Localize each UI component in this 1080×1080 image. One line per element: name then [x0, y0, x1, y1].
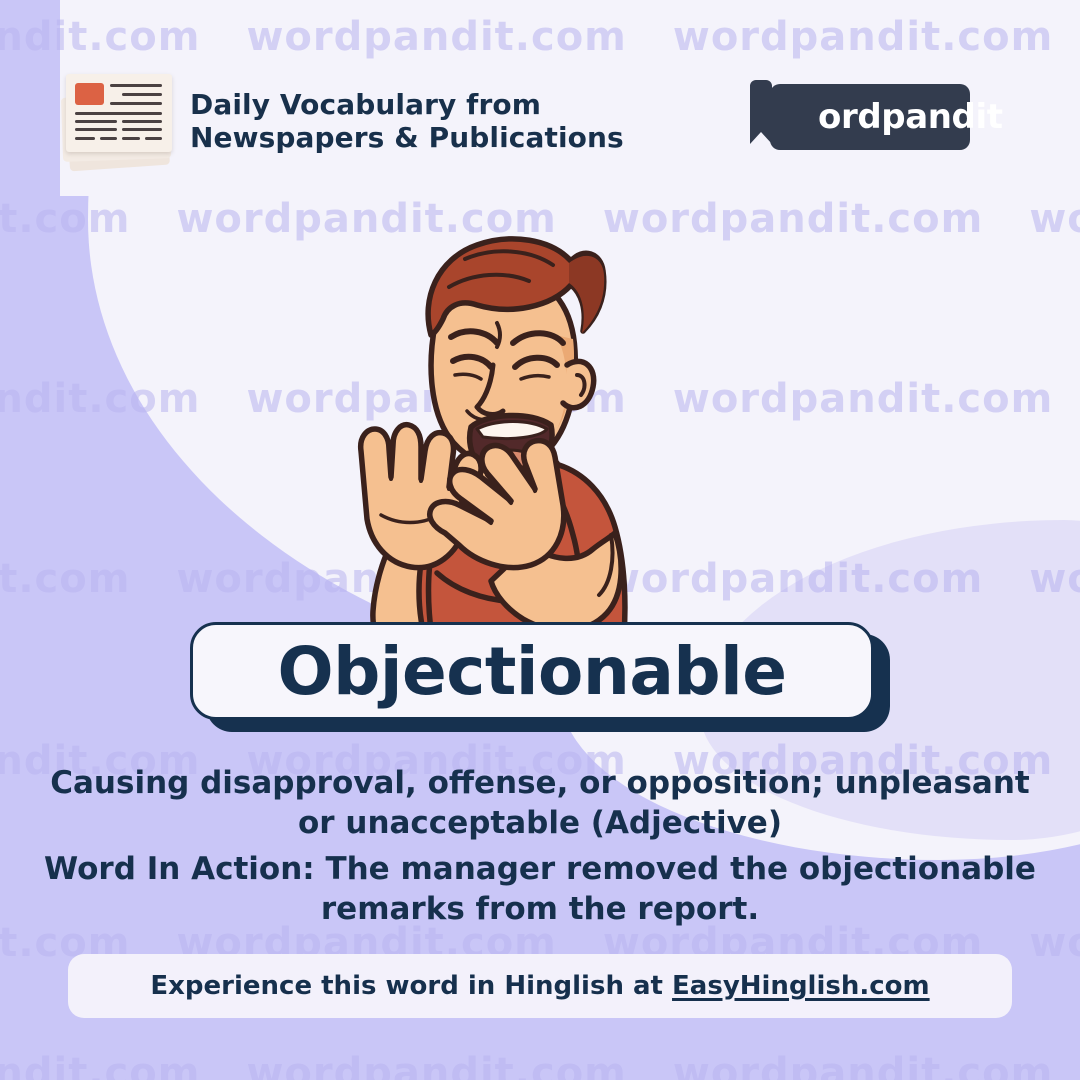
newspaper-line: [145, 137, 162, 140]
word-card: Objectionable: [190, 622, 890, 732]
newspaper-line: [75, 112, 162, 115]
word-definition: Causing disapproval, offense, or opposit…: [30, 764, 1050, 843]
newspaper-line: [75, 128, 117, 131]
newspaper-line: [75, 137, 95, 140]
wordpandit-logo[interactable]: ordpandit: [748, 84, 970, 150]
newspaper-icon: [58, 72, 178, 172]
header-title-line-2: Newspapers & Publications: [190, 121, 624, 154]
page-title: Daily Vocabulary from Newspapers & Publi…: [190, 88, 624, 154]
man-disgusted-stop-gesture-illustration: [315, 215, 715, 645]
newspaper-photo-block: [75, 83, 104, 105]
newspaper-line: [122, 128, 162, 131]
hinglish-cta-text: Experience this word in Hinglish at Easy…: [150, 971, 929, 1001]
poster-canvas: wordpandit.comwordpandit.comwordpandit.c…: [0, 0, 1080, 1080]
vocabulary-word: Objectionable: [277, 633, 786, 710]
header: Daily Vocabulary from Newspapers & Publi…: [0, 0, 1080, 200]
newspaper-line: [122, 93, 162, 96]
hinglish-cta-prefix: Experience this word in Hinglish at: [150, 971, 672, 1001]
newspaper-line: [122, 137, 140, 140]
easyhinglish-link[interactable]: EasyHinglish.com: [672, 971, 930, 1001]
newspaper-sheet-front: [66, 74, 172, 152]
newspaper-line: [110, 102, 162, 105]
hinglish-cta-bar[interactable]: Experience this word in Hinglish at Easy…: [68, 954, 1012, 1018]
newspaper-line: [100, 137, 117, 140]
header-title-line-1: Daily Vocabulary from: [190, 88, 624, 121]
bookmark-w-icon: [748, 78, 798, 150]
word-card-face: Objectionable: [190, 622, 874, 720]
newspaper-line: [75, 120, 117, 123]
word-in-action-example: Word In Action: The manager removed the …: [30, 850, 1050, 929]
newspaper-line: [122, 120, 162, 123]
newspaper-line: [110, 84, 162, 87]
logo-text: ordpandit: [818, 84, 1003, 150]
